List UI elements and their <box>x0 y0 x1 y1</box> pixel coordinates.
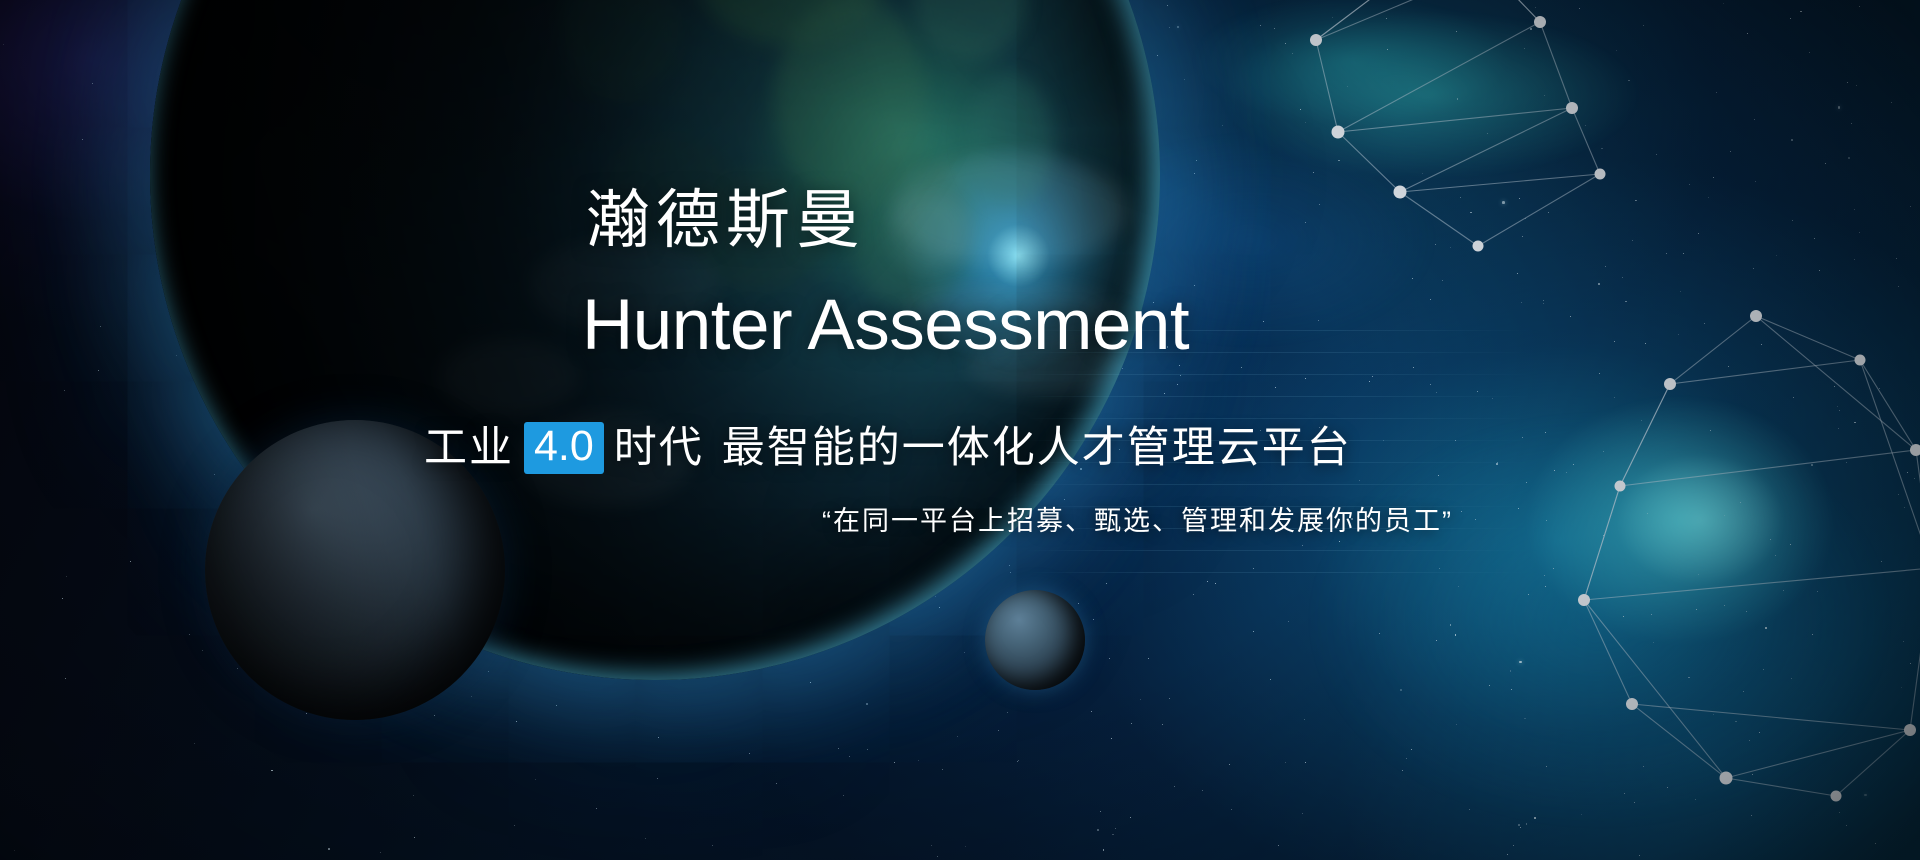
industry-version-badge: 4.0 <box>524 422 604 474</box>
hero-banner: 瀚德斯曼 Hunter Assessment 工业 4.0 时代 最智能的一体化… <box>0 0 1920 860</box>
tagline-after-badge: 时代 <box>614 427 704 470</box>
hero-copy: 瀚德斯曼 Hunter Assessment 工业 4.0 时代 最智能的一体化… <box>0 0 1920 860</box>
tagline-rest: 最智能的一体化人才管理云平台 <box>722 427 1352 470</box>
hero-quote: “在同一平台上招募、甄选、管理和发展你的员工” <box>822 508 1453 535</box>
tagline-before-badge: 工业 <box>424 427 514 470</box>
hero-tagline: 工业 4.0 时代 最智能的一体化人才管理云平台 <box>424 422 1352 474</box>
hero-title-chinese: 瀚德斯曼 <box>586 188 866 252</box>
hero-title-english: Hunter Assessment <box>582 290 1189 361</box>
